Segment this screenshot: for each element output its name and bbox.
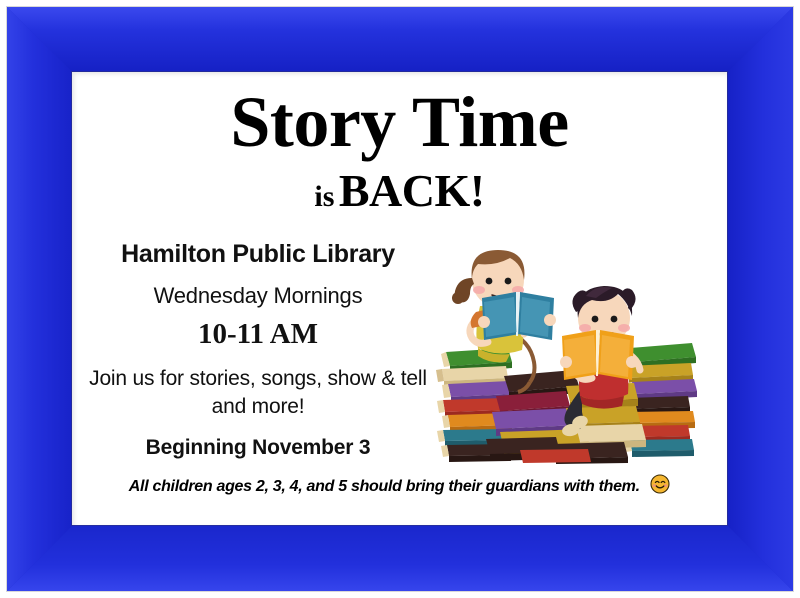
headline-block: Story Time is BACK!	[72, 88, 727, 217]
children-reading-illustration	[434, 236, 704, 464]
subtitle-is: is	[314, 180, 334, 213]
smiling-face-icon	[650, 474, 670, 499]
guardian-note: All children ages 2, 3, 4, and 5 should …	[72, 474, 727, 499]
story-time-poster: Story Time is BACK! Hamilton Public Libr…	[0, 0, 800, 598]
poster-canvas: Story Time is BACK! Hamilton Public Libr…	[72, 72, 727, 525]
poster-title: Story Time	[72, 88, 727, 156]
details-column: Hamilton Public Library Wednesday Mornin…	[82, 240, 434, 460]
frame-left-bevel	[7, 7, 73, 591]
frame-top-bevel	[7, 7, 793, 73]
library-name: Hamilton Public Library	[82, 240, 434, 269]
schedule-day: Wednesday Mornings	[82, 283, 434, 309]
frame-bottom-bevel	[7, 525, 793, 591]
subtitle-back: BACK!	[339, 165, 485, 216]
frame-right-bevel	[727, 7, 793, 591]
guardian-note-text: All children ages 2, 3, 4, and 5 should …	[129, 478, 640, 496]
poster-body: Hamilton Public Library Wednesday Mornin…	[72, 240, 727, 465]
activity-description: Join us for stories, songs, show & tell …	[82, 365, 434, 420]
poster-subtitle: is BACK!	[72, 164, 727, 217]
start-date: Beginning November 3	[82, 436, 434, 460]
schedule-time: 10-11 AM	[82, 318, 434, 351]
